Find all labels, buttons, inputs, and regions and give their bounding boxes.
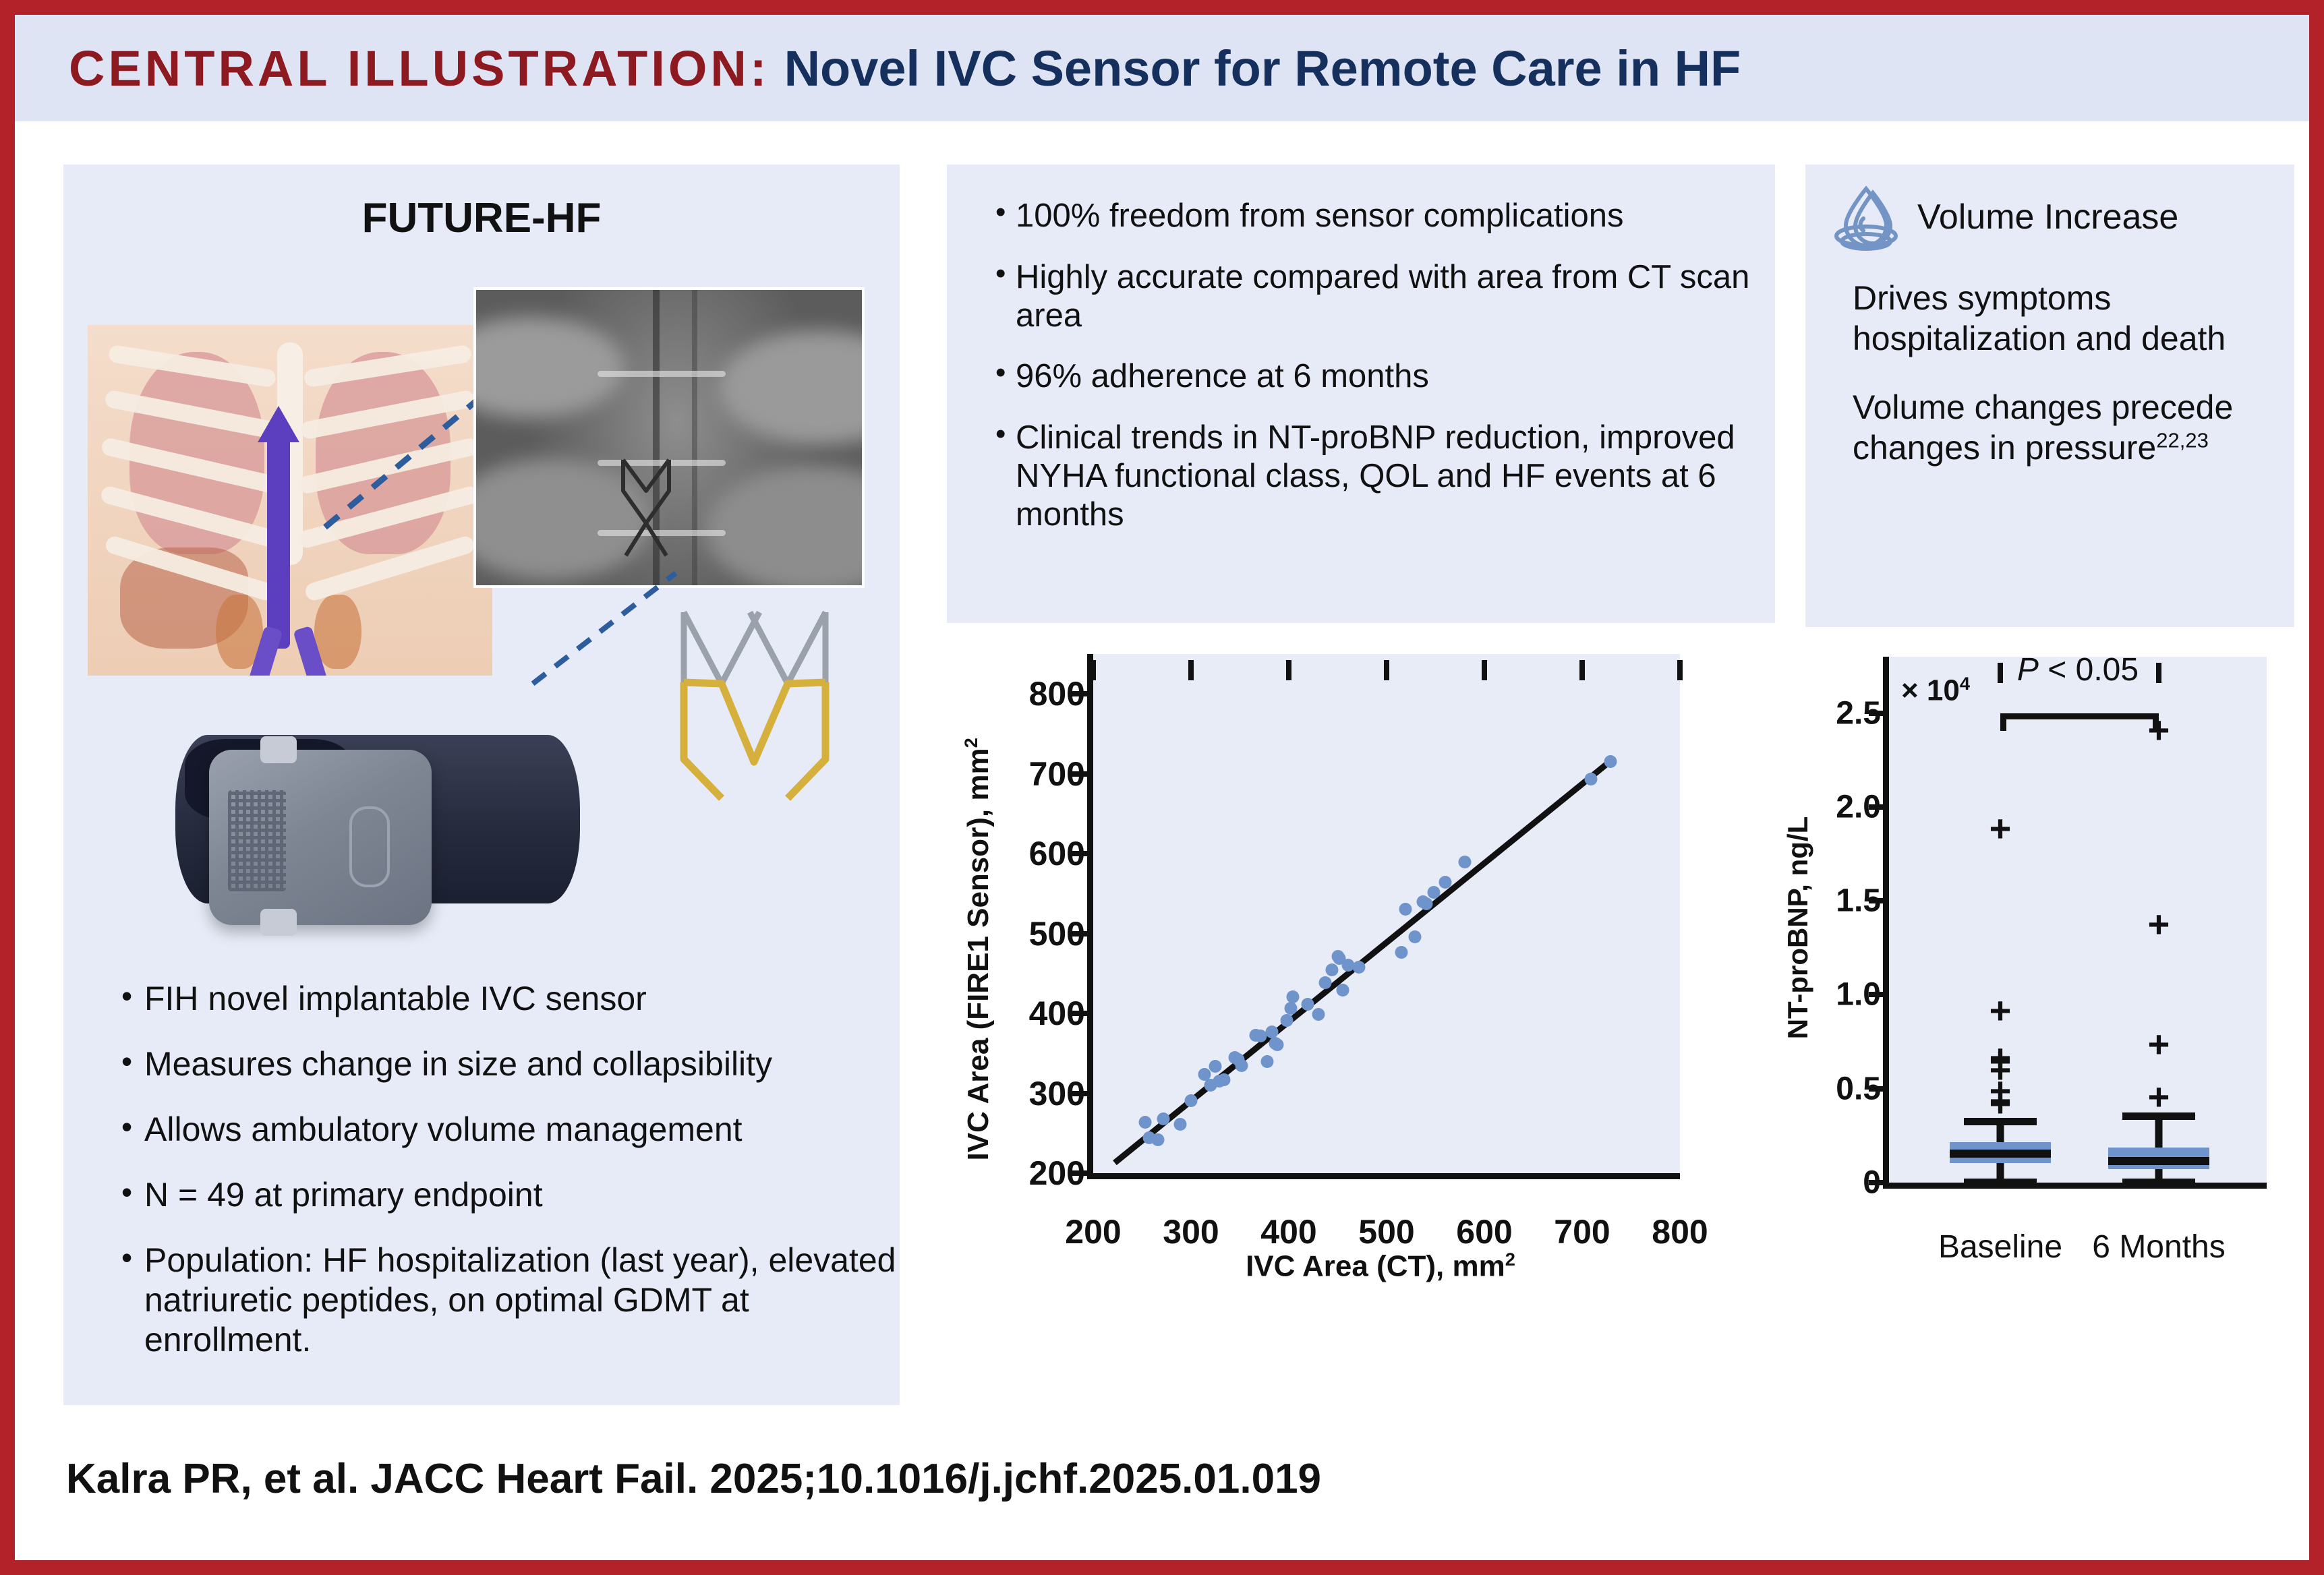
y-tick-label: 400: [950, 994, 1085, 1033]
scatter-plot-area: 2003004005006007008002003004005006007008…: [1087, 654, 1680, 1179]
y-tick-label: 2.0: [1760, 788, 1881, 825]
scatter-point: [1254, 1030, 1267, 1042]
stent-leader-line: [529, 566, 684, 688]
list-item: FIH novel implantable IVC sensor: [121, 979, 904, 1019]
median-line: [1950, 1150, 2051, 1158]
scatter-point: [1395, 946, 1407, 959]
outlier-marker: +: [1989, 810, 2012, 848]
volume-paragraph-1: Drives symptoms hospitalization and deat…: [1853, 278, 2271, 359]
water-droplet-icon: [1830, 182, 1902, 252]
stent-implant-diagram: [664, 603, 846, 805]
citation-footer: Kalra PR, et al. JACC Heart Fail. 2025;1…: [66, 1455, 1321, 1503]
scatter-point: [1399, 903, 1412, 916]
list-item: Highly accurate compared with area from …: [994, 258, 1790, 335]
list-item: Clinical trends in NT-proBNP reduction, …: [994, 419, 1790, 533]
list-item: 100% freedom from sensor complications: [994, 197, 1790, 235]
implant-fluoro-marker: [615, 456, 677, 566]
reference-superscript: 22,23: [2156, 428, 2209, 452]
scatter-point: [1353, 961, 1366, 974]
scatter-point: [1301, 998, 1314, 1011]
whisker-cap: [2122, 1179, 2195, 1186]
category-label: 6 Months: [2051, 1228, 2267, 1266]
y-tick-label: 600: [950, 834, 1085, 873]
scatter-point: [1151, 1133, 1164, 1146]
scatter-point: [1420, 897, 1433, 910]
scatter-point: [1312, 1008, 1325, 1021]
y-tick-label: 800: [950, 674, 1085, 713]
scatter-point: [1281, 1014, 1294, 1027]
volume-paragraph-2-text: Volume changes precede changes in pressu…: [1853, 388, 2233, 467]
scatter-point: [1261, 1055, 1274, 1068]
volume-increase-panel: Volume Increase Drives symptoms hospital…: [1805, 165, 2294, 627]
outlier-marker: +: [2148, 1078, 2170, 1116]
y-tick-label: 1.5: [1760, 883, 1881, 920]
fluoroscopy-image: [476, 290, 862, 585]
y-tick-label: 0.5: [1760, 1070, 1881, 1107]
x-tick-mark: [2156, 663, 2161, 683]
scatter-point: [1604, 755, 1617, 768]
scatter-point: [1138, 1116, 1151, 1129]
y-tick-label: 300: [950, 1074, 1085, 1113]
y-tick-label: 0: [1760, 1164, 1881, 1201]
key-findings-list: 100% freedom from sensor complications H…: [967, 197, 1790, 557]
outlier-marker: +: [2148, 1026, 2170, 1063]
whisker-cap: [1964, 1179, 2037, 1186]
p-value-annotation: P < 0.05: [1889, 651, 2267, 688]
scatter-x-axis-label: IVC Area (CT), mm2: [1087, 1249, 1674, 1284]
ivc-area-scatter-chart: IVC Area (FIRE1 Sensor), mm2 20030040050…: [912, 642, 1741, 1357]
list-item: Measures change in size and collapsibili…: [121, 1044, 904, 1084]
scatter-point: [1284, 1002, 1297, 1015]
list-item: Population: HF hospitalization (last yea…: [121, 1241, 904, 1360]
scatter-point: [1218, 1073, 1231, 1086]
regression-line: [1093, 654, 1680, 1173]
boxplot-plot-area: × 104 P < 0.05 00.51.01.52.02.5Baseline+…: [1883, 657, 2267, 1189]
volume-panel-header: Volume Increase: [1830, 182, 2178, 252]
scatter-point: [1236, 1059, 1248, 1072]
scatter-point: [1174, 1118, 1187, 1131]
y-tick-label: 1.0: [1760, 976, 1881, 1013]
page-header: CENTRAL ILLUSTRATION: Novel IVC Sensor f…: [15, 15, 2309, 121]
key-findings-panel: 100% freedom from sensor complications H…: [947, 165, 1775, 623]
page-title: Novel IVC Sensor for Remote Care in HF: [784, 40, 1741, 96]
anatomy-leader-line: [88, 325, 492, 676]
y-tick-label: 700: [950, 754, 1085, 794]
anatomy-illustration: [88, 325, 492, 676]
significance-bar: [2000, 713, 2159, 719]
outlier-marker: +: [1989, 992, 2012, 1030]
scatter-point: [1409, 930, 1422, 943]
speaker-grill-icon: [228, 790, 286, 891]
median-line: [2108, 1157, 2209, 1165]
header-text: CENTRAL ILLUSTRATION: Novel IVC Sensor f…: [69, 40, 1741, 97]
study-bullet-list: FIH novel implantable IVC sensor Measure…: [94, 979, 904, 1386]
y-tick-label: 200: [950, 1154, 1085, 1193]
scatter-point: [1318, 976, 1331, 989]
scatter-point: [1585, 773, 1598, 785]
scatter-point: [1209, 1060, 1222, 1073]
volume-paragraph-2: Volume changes precede changes in pressu…: [1853, 387, 2271, 468]
scatter-point: [1185, 1094, 1198, 1107]
scatter-point: [1336, 984, 1349, 997]
list-item: Allows ambulatory volume management: [121, 1110, 904, 1150]
trial-name-title: FUTURE-HF: [63, 194, 900, 242]
significance-tick-right: [2153, 713, 2159, 731]
central-illustration-page: CENTRAL ILLUSTRATION: Novel IVC Sensor f…: [0, 0, 2324, 1575]
nt-probnp-box-plot: NT-proBNP, ng/L × 104 P < 0.05 00.51.01.…: [1741, 642, 2324, 1357]
scatter-point: [1325, 963, 1338, 976]
outlier-marker: +: [2148, 905, 2170, 943]
header-label-prefix: CENTRAL ILLUSTRATION:: [69, 40, 770, 96]
left-study-panel: FUTURE-HF: [63, 165, 900, 1405]
y-tick-label: 500: [950, 914, 1085, 953]
volume-panel-body: Drives symptoms hospitalization and deat…: [1853, 278, 2271, 496]
list-item: 96% adherence at 6 months: [994, 357, 1790, 396]
scatter-point: [1427, 886, 1440, 899]
scatter-point: [1459, 856, 1472, 868]
scatter-point: [1439, 876, 1452, 889]
device-button: [349, 806, 390, 887]
scatter-point: [1157, 1112, 1170, 1125]
x-tick-label: 800: [1619, 1212, 1741, 1251]
x-tick-mark: [1998, 663, 2003, 683]
scatter-point: [1271, 1038, 1283, 1051]
significance-tick-left: [2000, 713, 2006, 731]
outlier-marker: +: [1989, 1039, 2012, 1077]
y-tick-label: 2.5: [1760, 694, 1881, 732]
volume-panel-title: Volume Increase: [1917, 197, 2178, 237]
list-item: N = 49 at primary endpoint: [121, 1175, 904, 1215]
scatter-point: [1286, 990, 1299, 1003]
belt-reader-device: [128, 688, 600, 957]
